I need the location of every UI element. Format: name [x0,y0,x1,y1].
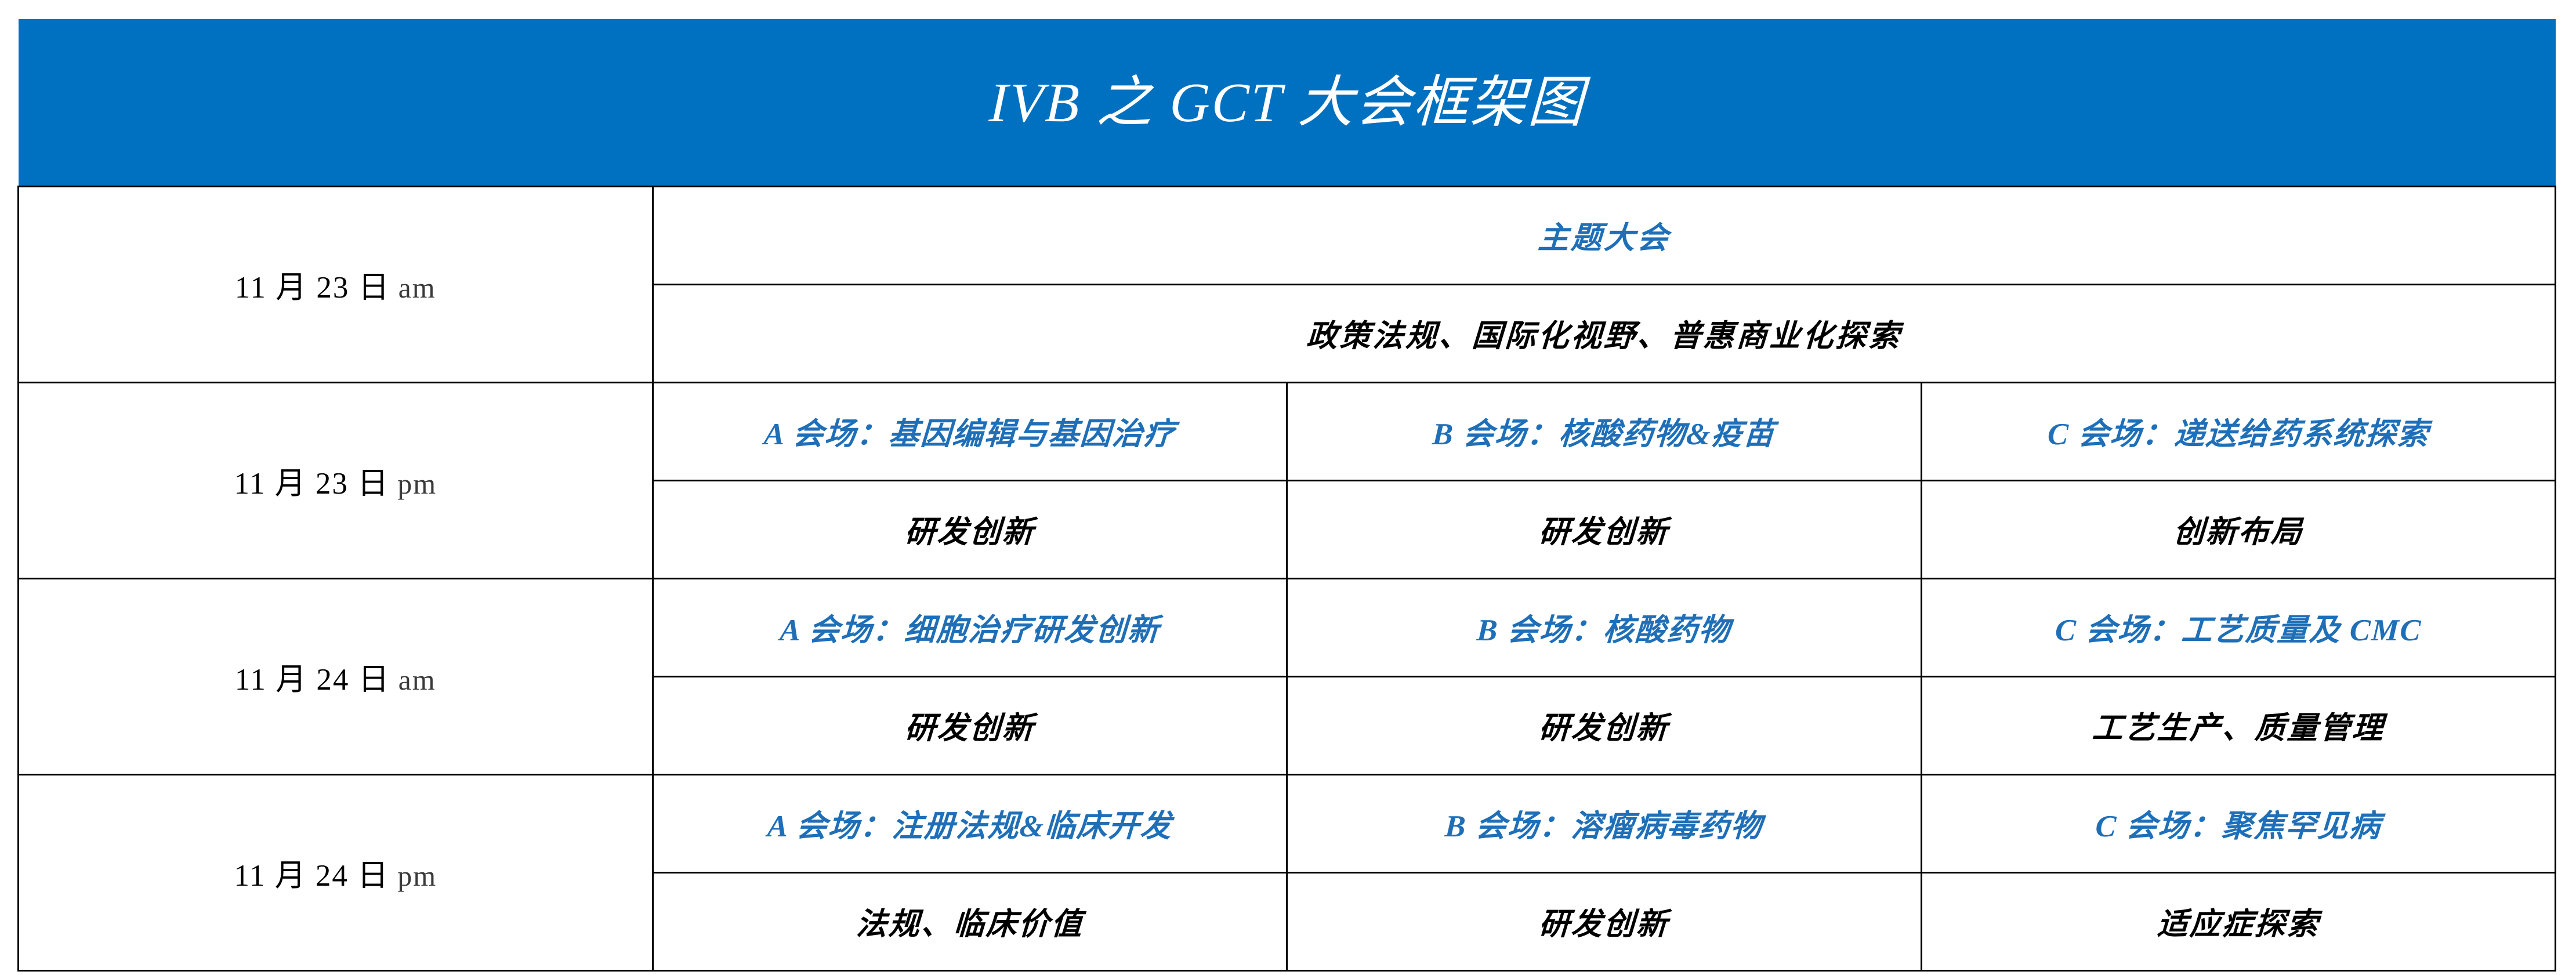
period-label: pm [397,860,437,892]
session-desc: 适应症探索 [1921,900,2556,944]
track-desc-cell-2-b[interactable]: 研发创新 [1287,677,1922,775]
track-desc-cell-1-b[interactable]: 研发创新 [1287,481,1922,579]
plenary-title-cell-0[interactable]: 主题大会 [653,187,2556,285]
date-cell-1: 11 月 23 日pm [19,383,653,579]
title-row: IVB 之 GCT 大会框架图 [19,19,2556,187]
session-title: B 会场：核酸药物 [1287,606,1921,650]
session-desc: 研发创新 [1287,900,1921,944]
track-title-cell-2-b[interactable]: B 会场：核酸药物 [1287,579,1922,677]
table-row: 11 月 23 日am 主题大会 [19,187,2556,285]
track-desc-cell-2-a[interactable]: 研发创新 [653,677,1287,775]
session-title: A 会场：基因编辑与基因治疗 [653,409,1287,454]
date-label: 11 月 24 日 [234,859,389,893]
session-title: B 会场：核酸药物&疫苗 [1287,409,1921,454]
track-desc-cell-1-a[interactable]: 研发创新 [653,481,1287,579]
period-label: am [398,664,436,696]
date-cell-2: 11 月 24 日am [19,579,653,775]
session-title: C 会场：聚焦罕见病 [1921,802,2556,846]
session-desc: 研发创新 [653,704,1287,748]
table-row: 11 月 24 日am A 会场：细胞治疗研发创新 B 会场：核酸药物 C 会场… [19,579,2556,677]
date-cell-0: 11 月 23 日am [19,187,653,383]
session-desc: 研发创新 [1287,704,1921,748]
track-title-cell-1-b[interactable]: B 会场：核酸药物&疫苗 [1287,383,1922,481]
page-title: IVB 之 GCT 大会框架图 [17,72,2557,133]
table-row: 11 月 24 日pm A 会场：注册法规&临床开发 B 会场：溶瘤病毒药物 C… [19,775,2556,873]
session-desc: 研发创新 [653,508,1287,552]
track-title-cell-3-c[interactable]: C 会场：聚焦罕见病 [1921,775,2556,873]
track-desc-cell-3-a[interactable]: 法规、临床价值 [653,873,1287,971]
session-desc: 法规、临床价值 [653,900,1287,944]
plenary-desc-cell-0[interactable]: 政策法规、国际化视野、普惠商业化探索 [653,285,2556,383]
period-label: pm [397,467,437,500]
page-root: IVB 之 GCT 大会框架图 11 月 23 日am 主题大会 政策法规、国际… [0,0,2576,975]
track-title-cell-1-a[interactable]: A 会场：基因编辑与基因治疗 [653,383,1287,481]
date-label: 11 月 24 日 [235,663,390,697]
track-title-cell-2-a[interactable]: A 会场：细胞治疗研发创新 [653,579,1287,677]
session-title: B 会场：溶瘤病毒药物 [1287,802,1921,846]
track-desc-cell-3-c[interactable]: 适应症探索 [1921,873,2556,971]
session-title: A 会场：细胞治疗研发创新 [653,606,1287,650]
track-title-cell-1-c[interactable]: C 会场：递送给药系统探索 [1921,383,2556,481]
session-title: C 会场：工艺质量及 CMC [1921,606,2556,650]
track-desc-cell-1-c[interactable]: 创新布局 [1921,481,2556,579]
track-title-cell-2-c[interactable]: C 会场：工艺质量及 CMC [1921,579,2556,677]
table-header: IVB 之 GCT 大会框架图 [19,19,2556,187]
track-desc-cell-2-c[interactable]: 工艺生产、质量管理 [1921,677,2556,775]
period-label: am [398,271,436,304]
track-title-cell-3-b[interactable]: B 会场：溶瘤病毒药物 [1287,775,1922,873]
plenary-desc: 政策法规、国际化视野、普惠商业化探索 [653,311,2556,356]
session-title: A 会场：注册法规&临床开发 [653,802,1287,846]
table-row: 11 月 23 日pm A 会场：基因编辑与基因治疗 B 会场：核酸药物&疫苗 … [19,383,2556,481]
date-cell-3: 11 月 24 日pm [19,775,653,971]
session-desc: 创新布局 [1921,508,2556,552]
track-desc-cell-3-b[interactable]: 研发创新 [1287,873,1922,971]
session-desc: 工艺生产、质量管理 [1921,704,2556,748]
date-label: 11 月 23 日 [235,271,390,305]
date-label: 11 月 23 日 [234,467,389,501]
plenary-title: 主题大会 [653,213,2556,258]
track-title-cell-3-a[interactable]: A 会场：注册法规&临床开发 [653,775,1287,873]
banner-title-cell: IVB 之 GCT 大会框架图 [19,19,2556,187]
session-title: C 会场：递送给药系统探索 [1921,409,2556,454]
conference-framework-table: IVB 之 GCT 大会框架图 11 月 23 日am 主题大会 政策法规、国际… [17,19,2556,972]
table-body: 11 月 23 日am 主题大会 政策法规、国际化视野、普惠商业化探索 11 月… [19,187,2556,971]
session-desc: 研发创新 [1287,508,1921,552]
